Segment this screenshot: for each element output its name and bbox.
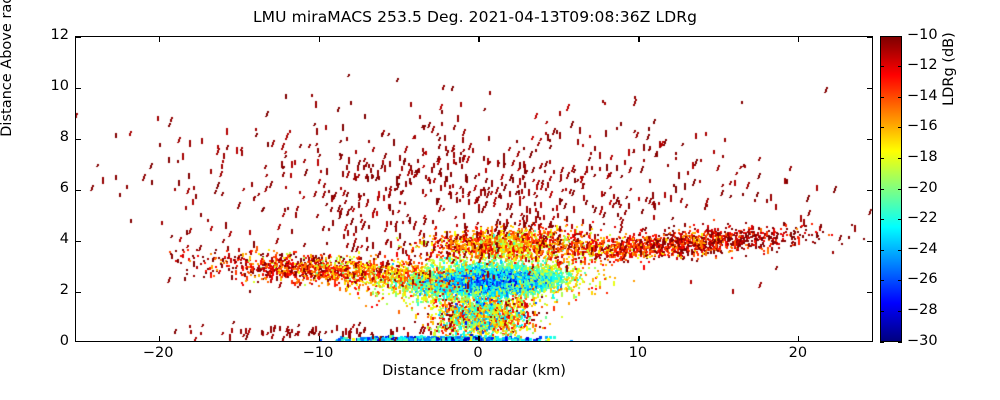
colorbar-tick-mark bbox=[898, 189, 902, 190]
y-tick-mark bbox=[867, 88, 872, 89]
x-tick-label: −10 bbox=[288, 345, 348, 361]
x-tick-mark bbox=[159, 336, 160, 341]
plot-area bbox=[75, 36, 873, 342]
colorbar-tick-mark bbox=[898, 127, 902, 128]
colorbar-tick-mark bbox=[880, 250, 884, 251]
x-tick-mark bbox=[319, 37, 320, 42]
colorbar-tick-mark bbox=[898, 280, 902, 281]
y-tick-mark bbox=[867, 37, 872, 38]
colorbar-tick-mark bbox=[880, 189, 884, 190]
x-tick-label: −20 bbox=[128, 345, 188, 361]
colorbar-tick-mark bbox=[898, 158, 902, 159]
x-tick-mark bbox=[638, 336, 639, 341]
x-tick-mark bbox=[319, 336, 320, 341]
y-tick-label: 0 bbox=[29, 333, 69, 349]
y-tick-label: 12 bbox=[29, 27, 69, 43]
colorbar-tick-mark bbox=[898, 250, 902, 251]
colorbar-tick-mark bbox=[880, 311, 884, 312]
x-tick-mark bbox=[478, 37, 479, 42]
page-title: LMU miraMACS 253.5 Deg. 2021-04-13T09:08… bbox=[0, 8, 950, 26]
x-tick-mark bbox=[159, 37, 160, 42]
y-axis-label: Distance Above radar (km) bbox=[0, 0, 15, 189]
x-tick-mark bbox=[478, 336, 479, 341]
colorbar-tick-mark bbox=[898, 219, 902, 220]
y-tick-label: 8 bbox=[29, 129, 69, 145]
y-tick-mark bbox=[76, 292, 81, 293]
colorbar-tick-mark bbox=[898, 66, 902, 67]
scatter-data-layer bbox=[76, 37, 873, 342]
y-tick-mark bbox=[867, 241, 872, 242]
y-tick-mark bbox=[76, 37, 81, 38]
y-tick-label: 4 bbox=[29, 231, 69, 247]
y-tick-mark bbox=[76, 88, 81, 89]
y-tick-label: 6 bbox=[29, 180, 69, 196]
y-tick-mark bbox=[867, 292, 872, 293]
x-tick-label: 0 bbox=[448, 345, 508, 361]
colorbar-tick-label: −24 bbox=[907, 241, 953, 257]
colorbar-tick-mark bbox=[880, 36, 884, 37]
colorbar-tick-mark bbox=[898, 342, 902, 343]
x-tick-mark bbox=[798, 37, 799, 42]
y-tick-label: 2 bbox=[29, 282, 69, 298]
colorbar-tick-mark bbox=[880, 66, 884, 67]
x-tick-mark bbox=[638, 37, 639, 42]
x-tick-label: 20 bbox=[768, 345, 828, 361]
colorbar-tick-label: −22 bbox=[907, 210, 953, 226]
colorbar: −30−28−26−24−22−20−18−16−14−12−10 bbox=[880, 36, 902, 342]
x-axis-label: Distance from radar (km) bbox=[75, 363, 873, 379]
colorbar-label: LDRg (dB) bbox=[941, 0, 957, 189]
colorbar-tick-mark bbox=[880, 219, 884, 220]
colorbar-tick-mark bbox=[898, 97, 902, 98]
radar-rhi-figure: LMU miraMACS 253.5 Deg. 2021-04-13T09:08… bbox=[0, 0, 1000, 400]
colorbar-tick-mark bbox=[880, 280, 884, 281]
x-tick-label: 10 bbox=[608, 345, 668, 361]
colorbar-tick-mark bbox=[880, 97, 884, 98]
y-tick-mark bbox=[76, 241, 81, 242]
colorbar-tick-label: −28 bbox=[907, 302, 953, 318]
y-tick-label: 10 bbox=[29, 78, 69, 94]
x-tick-mark bbox=[798, 336, 799, 341]
colorbar-tick-label: −30 bbox=[907, 333, 953, 349]
colorbar-tick-mark bbox=[880, 158, 884, 159]
y-tick-mark bbox=[867, 139, 872, 140]
y-tick-mark bbox=[76, 190, 81, 191]
colorbar-tick-mark bbox=[880, 342, 884, 343]
colorbar-tick-mark bbox=[898, 36, 902, 37]
colorbar-tick-mark bbox=[880, 127, 884, 128]
y-tick-mark bbox=[867, 190, 872, 191]
y-tick-mark bbox=[76, 139, 81, 140]
colorbar-tick-label: −26 bbox=[907, 271, 953, 287]
colorbar-tick-mark bbox=[898, 311, 902, 312]
